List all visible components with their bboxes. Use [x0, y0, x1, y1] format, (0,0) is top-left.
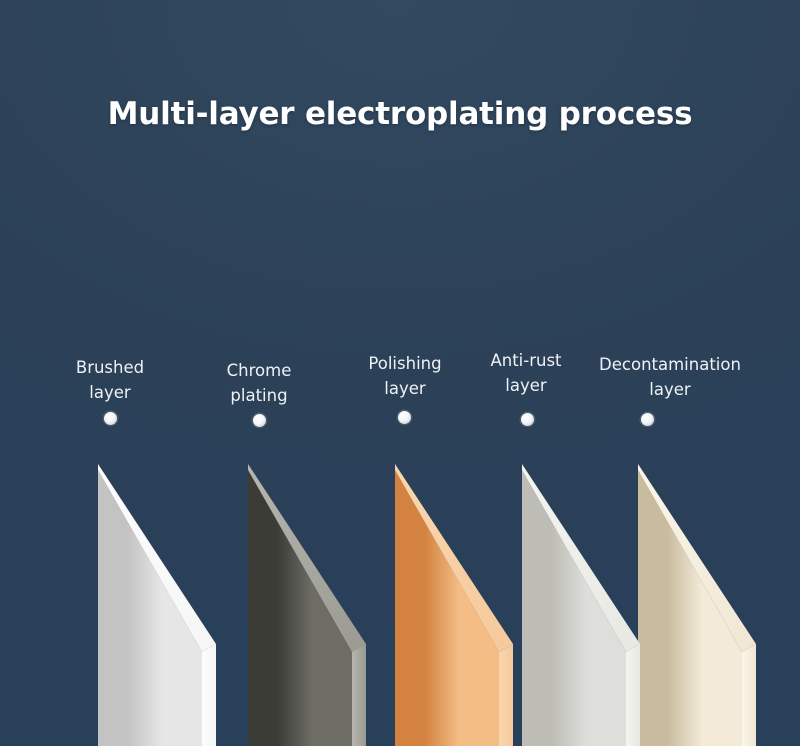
electroplating-diagram: Multi-layer electroplating process Brush… [0, 0, 800, 746]
page-title: Multi-layer electroplating process [0, 96, 800, 132]
layer-label-line1: Decontamination [520, 352, 800, 377]
layer-marker-dot-anti-rust-layer[interactable] [521, 413, 534, 426]
layer-marker-dot-polishing-layer[interactable] [398, 411, 411, 424]
layer-marker-dot-decontamination-layer[interactable] [641, 413, 654, 426]
layer-plate-shape [381, 456, 531, 746]
layer-plate-polishing-layer[interactable] [381, 456, 531, 746]
layer-plate-side-face [742, 644, 756, 746]
layer-plate-shape [84, 456, 234, 746]
layer-plate-chrome-plating[interactable] [234, 456, 384, 746]
layer-plate-shape [234, 456, 384, 746]
layer-plate-side-face [202, 644, 216, 746]
layer-plate-side-face [499, 644, 513, 746]
layer-plate-side-face [626, 644, 640, 746]
layer-marker-dot-chrome-plating[interactable] [253, 414, 266, 427]
layer-marker-dot-brushed-layer[interactable] [104, 412, 117, 425]
layer-label-decontamination-layer: Decontaminationlayer [520, 352, 800, 402]
layer-label-line2: layer [520, 377, 800, 402]
layer-plate-side-face [352, 644, 366, 746]
layer-plate-brushed-layer[interactable] [84, 456, 234, 746]
